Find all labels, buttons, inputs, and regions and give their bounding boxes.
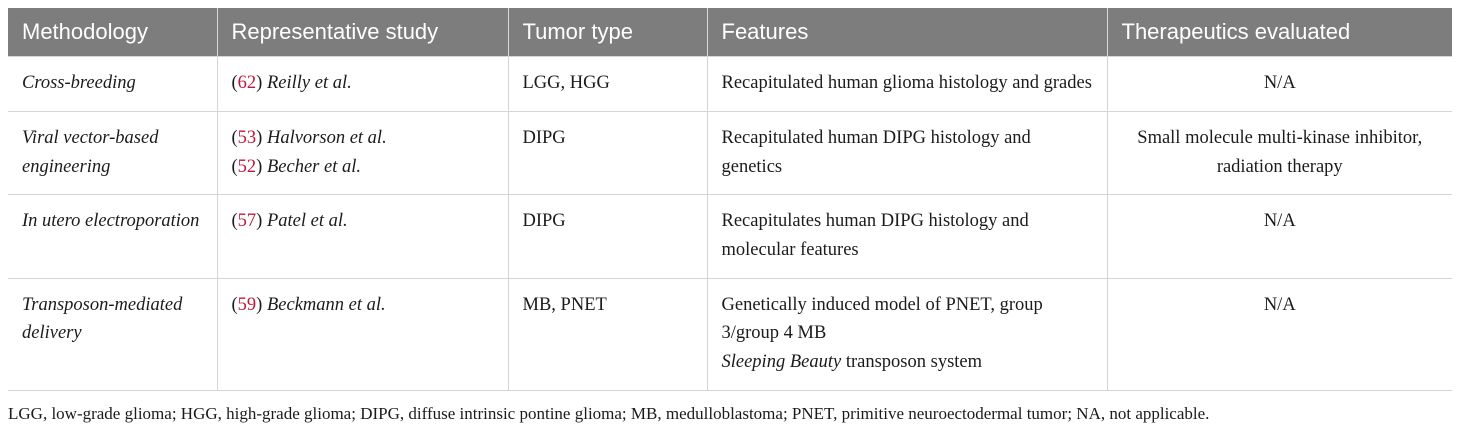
table-row: Cross-breeding(62) Reilly et al.LGG, HGG… [8, 57, 1452, 112]
reference-number[interactable]: 59 [238, 295, 257, 315]
study-author: Beckmann et al. [262, 295, 385, 315]
reference-number[interactable]: 52 [238, 157, 257, 177]
cell-methodology: Cross-breeding [8, 57, 217, 112]
study-reference: (52) Becher et al. [232, 153, 494, 182]
column-header-therapeutics-evaluated: Therapeutics evaluated [1107, 8, 1452, 57]
feature-italic-term: Sleeping Beauty [722, 352, 842, 372]
table-figure: Methodology Representative study Tumor t… [0, 0, 1460, 391]
cell-methodology: In utero electroporation [8, 195, 217, 278]
table-header: Methodology Representative study Tumor t… [8, 8, 1452, 57]
column-header-methodology: Methodology [8, 8, 217, 57]
cell-therapeutics-evaluated: N/A [1107, 57, 1452, 112]
cell-tumor-type: MB, PNET [508, 278, 707, 390]
study-author: Halvorson et al. [262, 128, 386, 148]
feature-line: Genetically induced model of PNET, group… [722, 291, 1093, 348]
cell-features: Recapitulated human glioma histology and… [707, 57, 1107, 112]
column-header-representative-study: Representative study [217, 8, 508, 57]
feature-text: Genetically induced model of PNET, group… [722, 295, 1043, 344]
cell-representative-study: (53) Halvorson et al.(52) Becher et al. [217, 111, 508, 194]
column-header-features: Features [707, 8, 1107, 57]
table-header-row: Methodology Representative study Tumor t… [8, 8, 1452, 57]
cell-therapeutics-evaluated: Small molecule multi-kinase inhibitor, r… [1107, 111, 1452, 194]
feature-text: Recapitulated human glioma histology and… [722, 73, 1092, 93]
study-author: Becher et al. [262, 157, 361, 177]
study-reference: (59) Beckmann et al. [232, 291, 494, 320]
cell-methodology: Viral vector-based engineering [8, 111, 217, 194]
cell-features: Recapitulated human DIPG histology and g… [707, 111, 1107, 194]
feature-text: Recapitulated human DIPG histology and g… [722, 128, 1031, 177]
study-reference: (62) Reilly et al. [232, 69, 494, 98]
study-reference: (57) Patel et al. [232, 207, 494, 236]
feature-line: Recapitulated human DIPG histology and g… [722, 124, 1093, 181]
table-row: Viral vector-based engineering(53) Halvo… [8, 111, 1452, 194]
cell-tumor-type: DIPG [508, 111, 707, 194]
feature-text: transposon system [841, 352, 982, 372]
cell-representative-study: (62) Reilly et al. [217, 57, 508, 112]
study-reference: (53) Halvorson et al. [232, 124, 494, 153]
table-row: In utero electroporation(57) Patel et al… [8, 195, 1452, 278]
feature-line: Recapitulates human DIPG histology and m… [722, 207, 1093, 264]
genetically-engineered-mouse-models-table: Methodology Representative study Tumor t… [8, 8, 1452, 391]
cell-tumor-type: DIPG [508, 195, 707, 278]
table-row: Transposon-mediated delivery(59) Beckman… [8, 278, 1452, 390]
reference-number[interactable]: 57 [238, 211, 257, 231]
feature-line: Recapitulated human glioma histology and… [722, 69, 1093, 98]
cell-therapeutics-evaluated: N/A [1107, 195, 1452, 278]
column-header-tumor-type: Tumor type [508, 8, 707, 57]
table-body: Cross-breeding(62) Reilly et al.LGG, HGG… [8, 57, 1452, 390]
reference-number[interactable]: 53 [238, 128, 257, 148]
cell-features: Genetically induced model of PNET, group… [707, 278, 1107, 390]
cell-representative-study: (57) Patel et al. [217, 195, 508, 278]
feature-line: Sleeping Beauty transposon system [722, 348, 1093, 377]
cell-features: Recapitulates human DIPG histology and m… [707, 195, 1107, 278]
cell-methodology: Transposon-mediated delivery [8, 278, 217, 390]
reference-number[interactable]: 62 [238, 73, 257, 93]
cell-therapeutics-evaluated: N/A [1107, 278, 1452, 390]
table-footnote: LGG, low-grade glioma; HGG, high-grade g… [0, 391, 1460, 426]
cell-tumor-type: LGG, HGG [508, 57, 707, 112]
feature-text: Recapitulates human DIPG histology and m… [722, 211, 1029, 260]
study-author: Patel et al. [262, 211, 347, 231]
study-author: Reilly et al. [262, 73, 351, 93]
cell-representative-study: (59) Beckmann et al. [217, 278, 508, 390]
